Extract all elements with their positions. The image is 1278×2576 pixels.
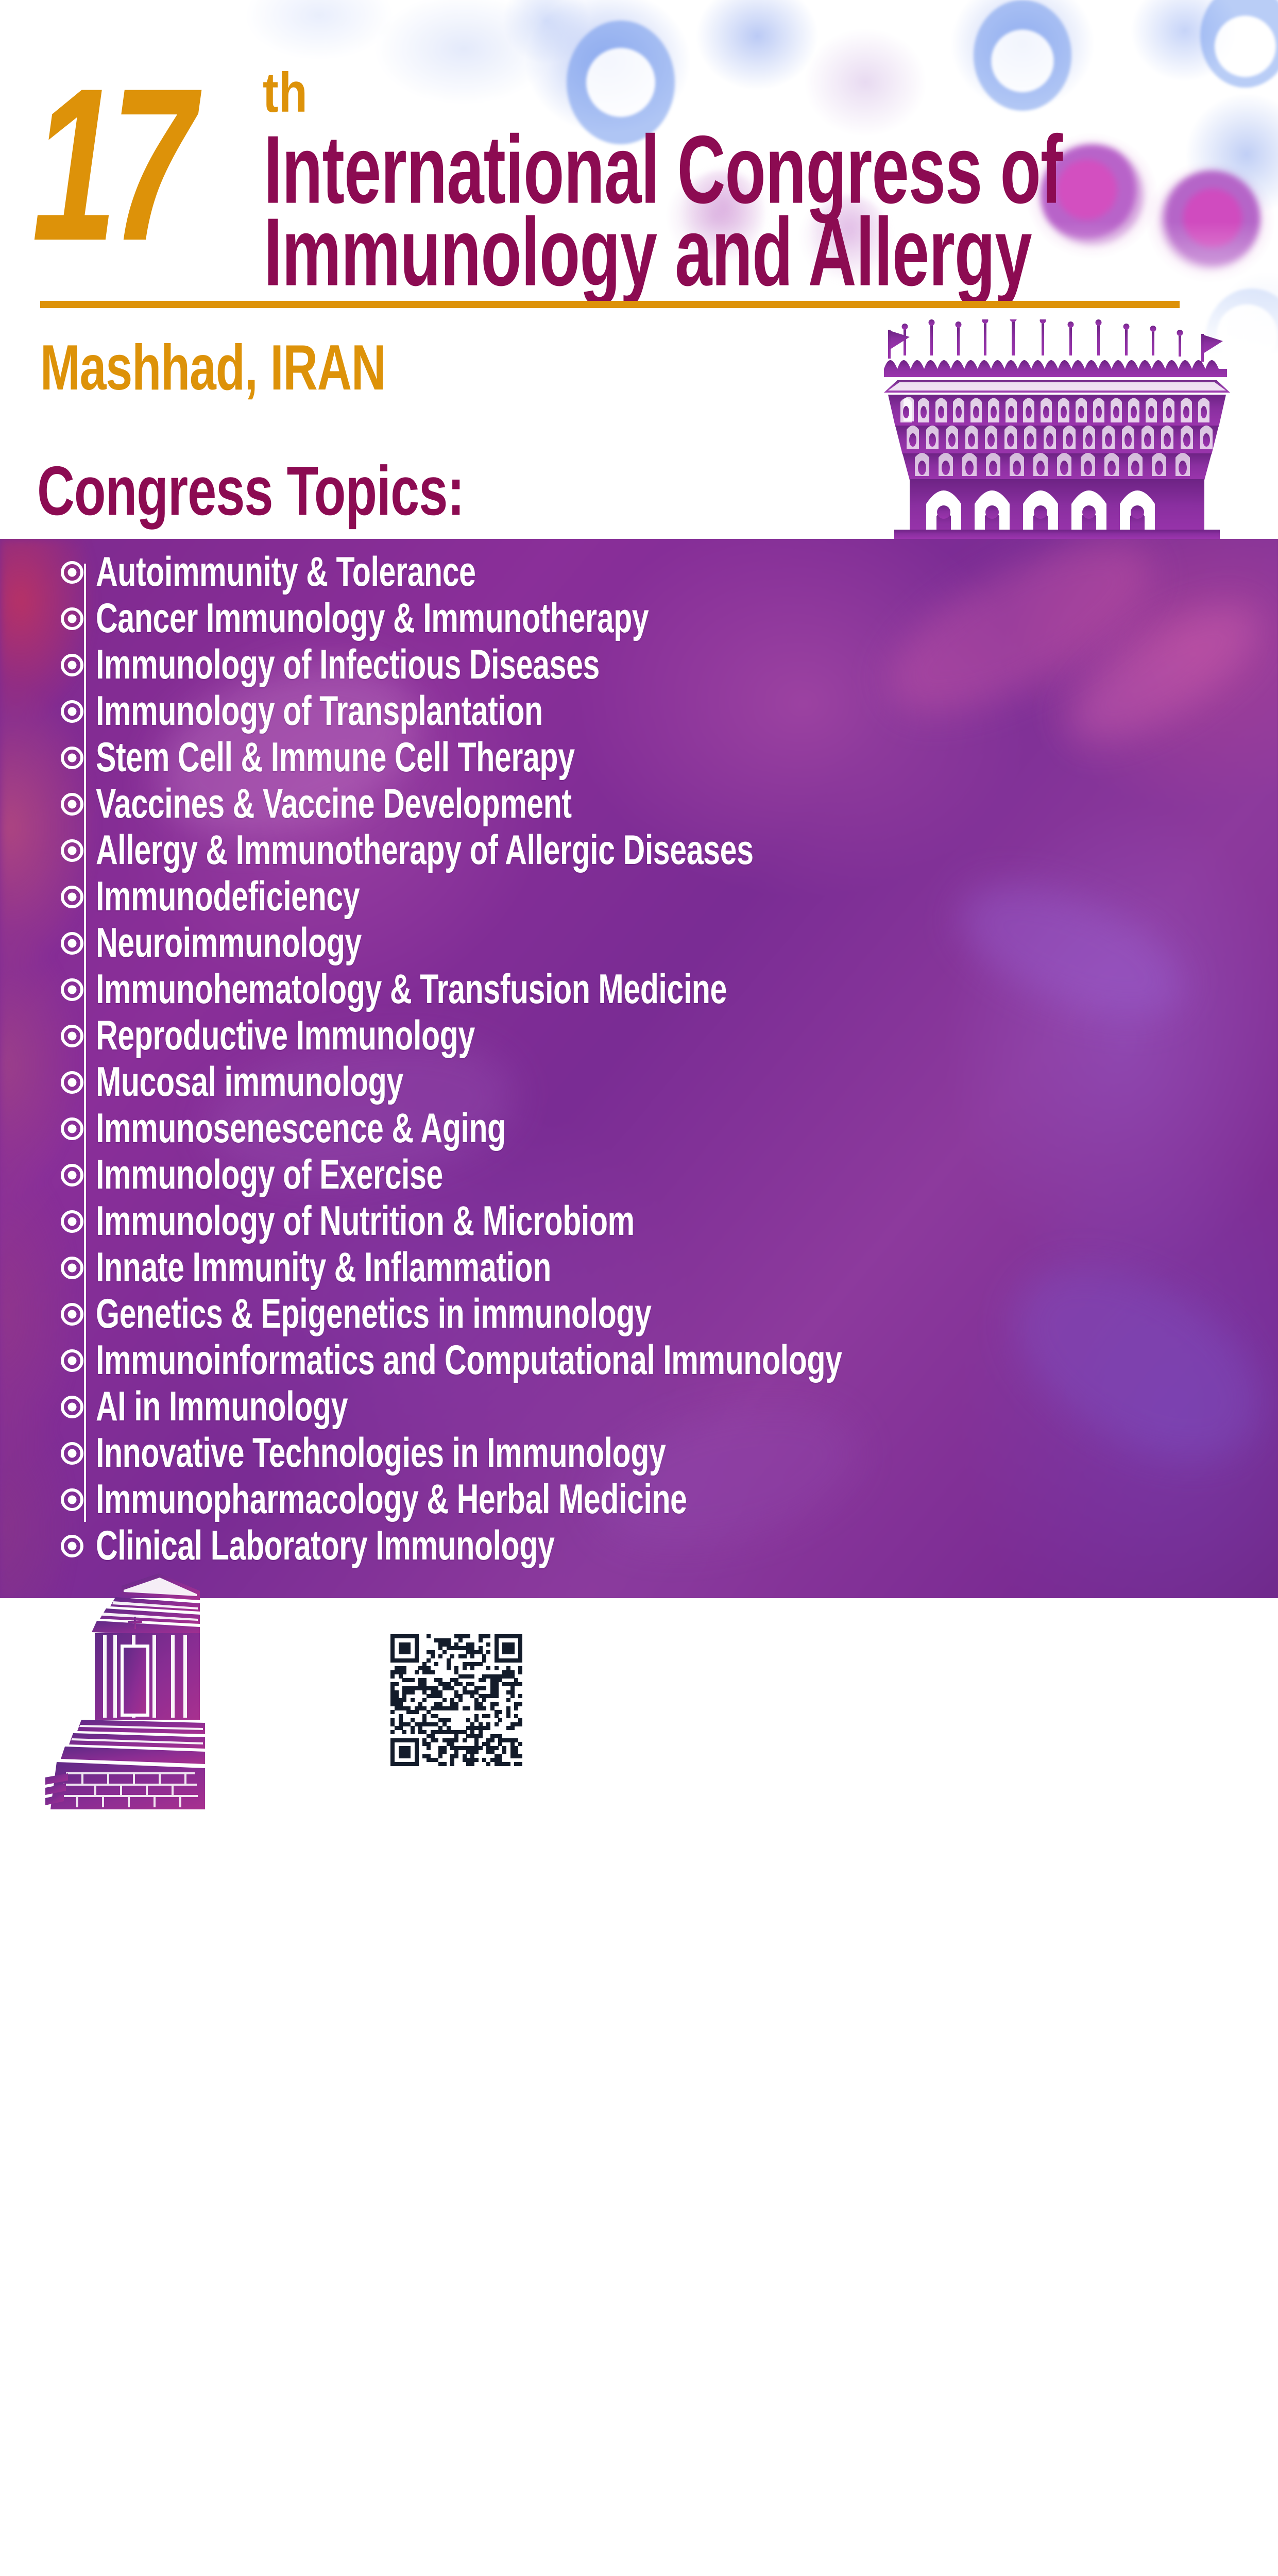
- circled-dot-icon: [61, 607, 83, 630]
- topic-label: Immunoinformatics and Computational Immu…: [96, 1340, 842, 1382]
- list-item[interactable]: Immunopharmacology & Herbal Medicine: [61, 1483, 715, 1517]
- list-item[interactable]: Innovative Technologies in Immunology: [61, 1436, 692, 1470]
- poster-header: 17 th International Congress of Immunolo…: [0, 0, 1278, 539]
- topic-label: Genetics & Epigenetics in immunology: [96, 1294, 651, 1335]
- list-item[interactable]: Immunology of Transplantation: [61, 694, 564, 728]
- topic-label: Innovative Technologies in Immunology: [96, 1433, 666, 1475]
- congress-website-qr-code[interactable]: [390, 1634, 522, 1766]
- list-item[interactable]: Autoimmunity & Tolerance: [61, 555, 493, 589]
- circled-dot-icon: [61, 1117, 83, 1140]
- topic-label: Immunology of Infectious Diseases: [96, 645, 600, 686]
- list-item[interactable]: Immunology of Infectious Diseases: [61, 648, 623, 682]
- topic-label: Autoimmunity & Tolerance: [96, 552, 476, 594]
- circled-dot-icon: [61, 1071, 83, 1094]
- topic-label: Immunology of Nutrition & Microbiom: [96, 1201, 635, 1243]
- circled-dot-icon: [61, 839, 83, 862]
- edition-number: 17: [32, 56, 189, 273]
- list-item[interactable]: Immunodeficiency: [61, 880, 372, 914]
- topic-label: Reproductive Immunology: [96, 1015, 475, 1057]
- list-item[interactable]: Mucosal immunology: [61, 1065, 418, 1099]
- list-item[interactable]: Reproductive Immunology: [61, 1019, 492, 1053]
- topic-label: Cancer Immunology & Immunotherapy: [96, 598, 649, 640]
- circled-dot-icon: [61, 1303, 83, 1326]
- circled-dot-icon: [61, 1396, 83, 1418]
- list-item[interactable]: Immunohematology & Transfusion Medicine: [61, 973, 757, 1007]
- list-item[interactable]: Immunology of Nutrition & Microbiom: [61, 1205, 660, 1239]
- topic-label: Allergy & Immunotherapy of Allergic Dise…: [96, 830, 754, 872]
- list-item[interactable]: Cancer Immunology & Immunotherapy: [61, 602, 675, 636]
- circled-dot-icon: [61, 654, 83, 676]
- ferdowsi-tomb-illustration: [45, 1567, 287, 1809]
- circled-dot-icon: [61, 1535, 83, 1557]
- topic-label: Stem Cell & Immune Cell Therapy: [96, 737, 575, 779]
- circled-dot-icon: [61, 1349, 83, 1372]
- topic-label: Immunology of Transplantation: [96, 691, 543, 733]
- list-item[interactable]: Vaccines & Vaccine Development: [61, 787, 594, 821]
- list-item[interactable]: Clinical Laboratory Immunology: [61, 1529, 576, 1563]
- gold-divider-rule: [40, 301, 1180, 308]
- topic-label: Immunology of Exercise: [96, 1155, 443, 1196]
- congress-title-line-2: Immunology and Allergy: [264, 204, 1032, 300]
- topic-label: Mucosal immunology: [96, 1062, 403, 1104]
- circled-dot-icon: [61, 978, 83, 1001]
- page-title: Congress Topics:: [37, 456, 464, 526]
- topics-list: Autoimmunity & Tolerance Cancer Immunolo…: [0, 539, 1278, 1598]
- list-item[interactable]: Neuroimmunology: [61, 926, 374, 960]
- topic-label: AI in Immunology: [96, 1386, 348, 1428]
- list-item[interactable]: Allergy & Immunotherapy of Allergic Dise…: [61, 834, 785, 868]
- list-item[interactable]: Stem Cell & Immune Cell Therapy: [61, 741, 597, 775]
- poster-footer: IMMUNOLOGY RESEARCH CENTER: [0, 1598, 1278, 1808]
- list-item[interactable]: AI in Immunology: [61, 1390, 360, 1424]
- circled-dot-icon: [61, 561, 83, 584]
- circled-dot-icon: [61, 1257, 83, 1279]
- topic-label: Clinical Laboratory Immunology: [96, 1526, 554, 1567]
- topic-label: Immunopharmacology & Herbal Medicine: [96, 1479, 687, 1521]
- edition-ordinal-suffix: th: [263, 65, 308, 121]
- circled-dot-icon: [61, 700, 83, 723]
- congress-location: Mashhad, IRAN: [40, 336, 385, 400]
- shrine-balcony-illustration: [877, 319, 1237, 539]
- congress-poster: 17 th International Congress of Immunolo…: [0, 0, 1278, 1808]
- circled-dot-icon: [61, 1442, 83, 1465]
- topic-label: Immunohematology & Transfusion Medicine: [96, 969, 727, 1011]
- list-item[interactable]: Immunosenescence & Aging: [61, 1112, 525, 1146]
- list-item[interactable]: Genetics & Epigenetics in immunology: [61, 1297, 677, 1331]
- list-item[interactable]: Innate Immunity & Inflammation: [61, 1251, 572, 1285]
- circled-dot-icon: [61, 1488, 83, 1511]
- list-item[interactable]: Immunology of Exercise: [61, 1158, 459, 1192]
- circled-dot-icon: [61, 886, 83, 908]
- topic-label: Immunodeficiency: [96, 876, 360, 918]
- circled-dot-icon: [61, 1025, 83, 1047]
- circled-dot-icon: [61, 1164, 83, 1187]
- circled-dot-icon: [61, 1210, 83, 1233]
- circled-dot-icon: [61, 747, 83, 769]
- topic-label: Immunosenescence & Aging: [96, 1108, 506, 1150]
- congress-topics-panel: Autoimmunity & Tolerance Cancer Immunolo…: [0, 539, 1278, 1598]
- list-item[interactable]: Immunoinformatics and Computational Immu…: [61, 1344, 877, 1378]
- circled-dot-icon: [61, 932, 83, 955]
- topic-label: Neuroimmunology: [96, 923, 362, 964]
- circled-dot-icon: [61, 793, 83, 816]
- topic-label: Vaccines & Vaccine Development: [96, 784, 572, 825]
- topic-label: Innate Immunity & Inflammation: [96, 1247, 551, 1289]
